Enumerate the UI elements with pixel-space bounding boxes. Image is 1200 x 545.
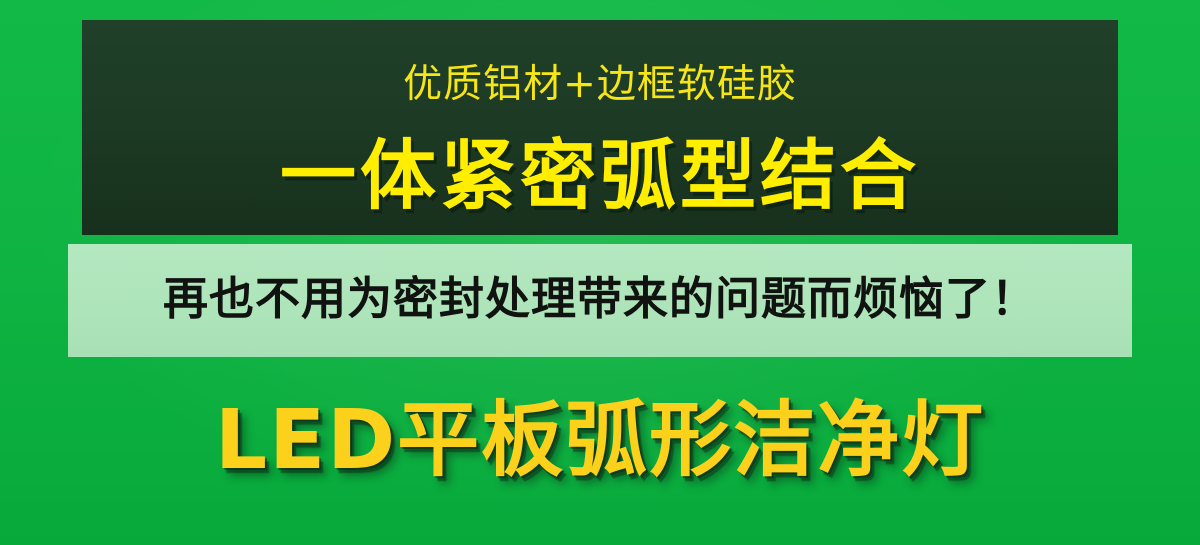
dark-headline-plate: 优质铝材+边框软硅胶 一体紧密弧型结合: [82, 20, 1118, 235]
headline-text: 一体紧密弧型结合: [82, 138, 1118, 214]
subline-text: 再也不用为密封处理带来的问题而烦恼了！: [68, 274, 1132, 324]
mint-subline-band: 再也不用为密封处理带来的问题而烦恼了！: [68, 244, 1132, 357]
promo-banner: 优质铝材+边框软硅胶 一体紧密弧型结合 再也不用为密封处理带来的问题而烦恼了！ …: [0, 0, 1200, 545]
kicker-text: 优质铝材+边框软硅胶: [82, 65, 1118, 104]
product-title: LED平板弧形洁净灯: [0, 400, 1200, 482]
